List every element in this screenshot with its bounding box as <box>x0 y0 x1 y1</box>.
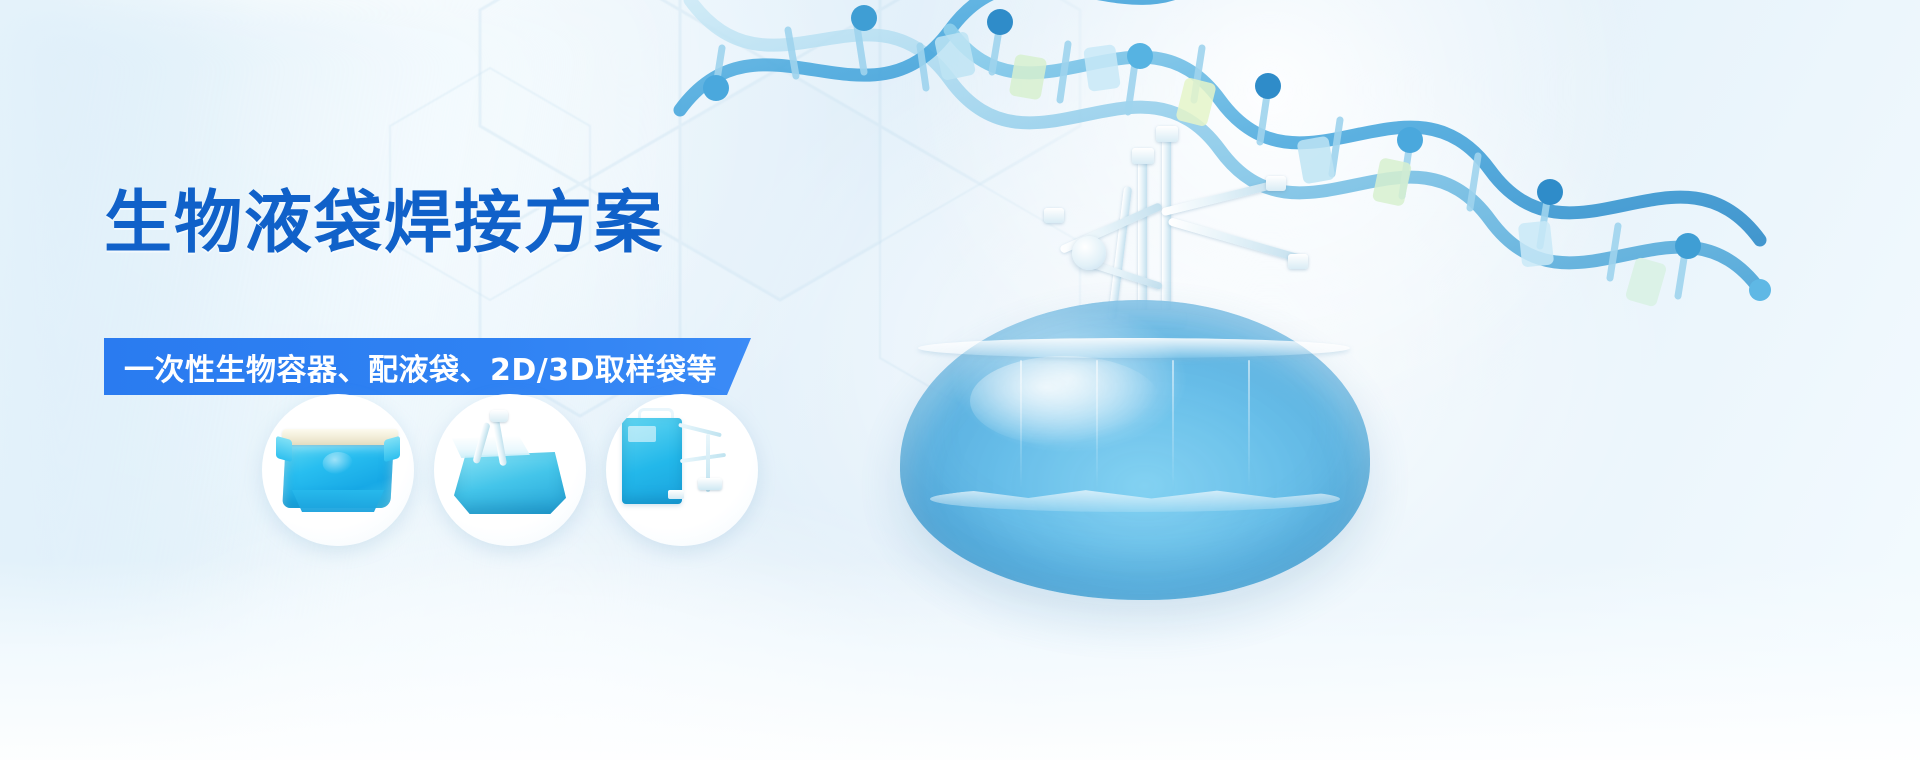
manifold-pipe <box>1162 138 1171 320</box>
hero-bag-rib <box>1020 360 1022 488</box>
manifold-cap <box>1156 126 1178 142</box>
manifold-pipe <box>1138 160 1147 320</box>
product-circle-2d-pillow-bag <box>262 394 414 546</box>
pillow-bag-ear-left <box>276 436 292 463</box>
banner-root: 生物液袋焊接方案 一次性生物容器、配液袋、2D/3D取样袋等 <box>0 0 1920 760</box>
sampling-bag-tube <box>678 423 722 438</box>
subtitle-banner: 一次性生物容器、配液袋、2D/3D取样袋等 <box>104 338 751 395</box>
manifold-cap <box>1288 254 1308 269</box>
cube-bag-port <box>490 410 508 422</box>
manifold-cap <box>1044 208 1064 223</box>
manifold-cap <box>1266 176 1286 191</box>
page-title: 生物液袋焊接方案 <box>104 185 664 263</box>
manifold-cap <box>1132 148 1154 164</box>
hero-3d-bioprocess-bag <box>900 300 1370 600</box>
hero-bag-highlight <box>970 356 1160 446</box>
hero-bag-rib <box>1248 360 1250 488</box>
hero-bag-tubing-manifold <box>1020 120 1320 330</box>
pillow-bag-fold <box>288 490 388 512</box>
pillow-bag-ear-right <box>384 436 400 463</box>
hero-bag-rib <box>1172 360 1174 488</box>
sampling-bag-clip <box>668 490 684 499</box>
hero-bag-rib <box>1096 360 1098 488</box>
sampling-bag-label-patch <box>628 426 656 442</box>
cube-bag-body <box>454 452 566 514</box>
product-circle-3d-cube-bag <box>434 394 586 546</box>
hero-bag-top-seam <box>918 338 1350 358</box>
sampling-bag-valve <box>698 478 722 490</box>
manifold-pipe <box>1161 180 1279 217</box>
manifold-filter-disc <box>1072 236 1106 270</box>
product-circle-sampling-bag <box>606 394 758 546</box>
sampling-bag-tube <box>680 453 726 463</box>
manifold-pipe <box>1168 217 1303 263</box>
cube-bag-top-panel <box>452 436 530 458</box>
